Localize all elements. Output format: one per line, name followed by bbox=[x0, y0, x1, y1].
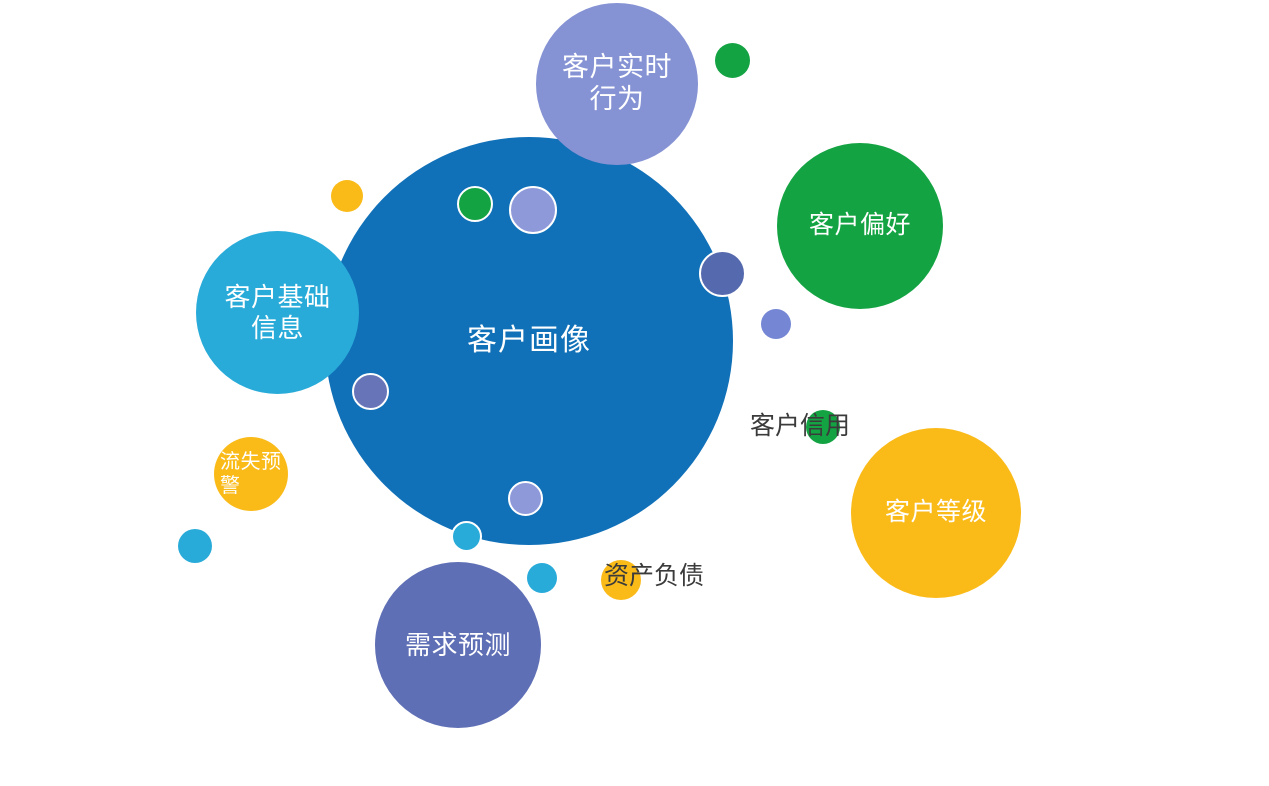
cyan-edge-bottom-icon bbox=[451, 521, 482, 552]
green-inner-icon bbox=[457, 186, 493, 222]
slate-left-icon bbox=[352, 373, 389, 410]
bubble-label-customer-credit: 客户信用 bbox=[750, 414, 850, 439]
bubble-label-demand-forecast: 需求预测 bbox=[398, 630, 518, 661]
bubble-customer-preference[interactable]: 客户偏好 bbox=[777, 143, 943, 309]
slate-edge-right-icon bbox=[699, 250, 746, 297]
cyan-far-left-icon bbox=[178, 529, 212, 563]
periwinkle-bottom-icon bbox=[508, 481, 543, 516]
bubble-realtime-behavior[interactable]: 客户实时行为 bbox=[536, 3, 698, 165]
bubble-customer-credit[interactable]: 客户信用 bbox=[750, 414, 850, 439]
periwinkle-right-icon bbox=[761, 309, 791, 339]
bubble-label-assets-liabilities: 资产负债 bbox=[604, 564, 704, 589]
cyan-lower-icon bbox=[527, 563, 557, 593]
bubble-label-customer-basic-info: 客户基础信息 bbox=[218, 282, 338, 343]
bubble-customer-basic-info[interactable]: 客户基础信息 bbox=[196, 231, 359, 394]
bubble-label-customer-preference: 客户偏好 bbox=[801, 211, 919, 241]
hub-label: 客户画像 bbox=[467, 323, 591, 358]
periwinkle-inner-icon bbox=[509, 186, 557, 234]
bubble-assets-liabilities[interactable]: 资产负债 bbox=[604, 564, 704, 589]
bubble-demand-forecast[interactable]: 需求预测 bbox=[375, 562, 541, 728]
bubble-churn-warning[interactable]: 流失预警 bbox=[214, 437, 288, 511]
bubble-label-realtime-behavior: 客户实时行为 bbox=[555, 52, 680, 116]
yellow-top-left-icon bbox=[331, 180, 363, 212]
green-top-right-icon bbox=[715, 43, 750, 78]
bubble-label-customer-level: 客户等级 bbox=[877, 498, 995, 528]
bubble-customer-level[interactable]: 客户等级 bbox=[851, 428, 1021, 598]
bubble-diagram-canvas: 客户画像 客户基础信息 客户实时行为 客户偏好 客户等级 需求预测 流失预警 客… bbox=[0, 0, 1269, 786]
bubble-label-churn-warning: 流失预警 bbox=[220, 450, 288, 498]
